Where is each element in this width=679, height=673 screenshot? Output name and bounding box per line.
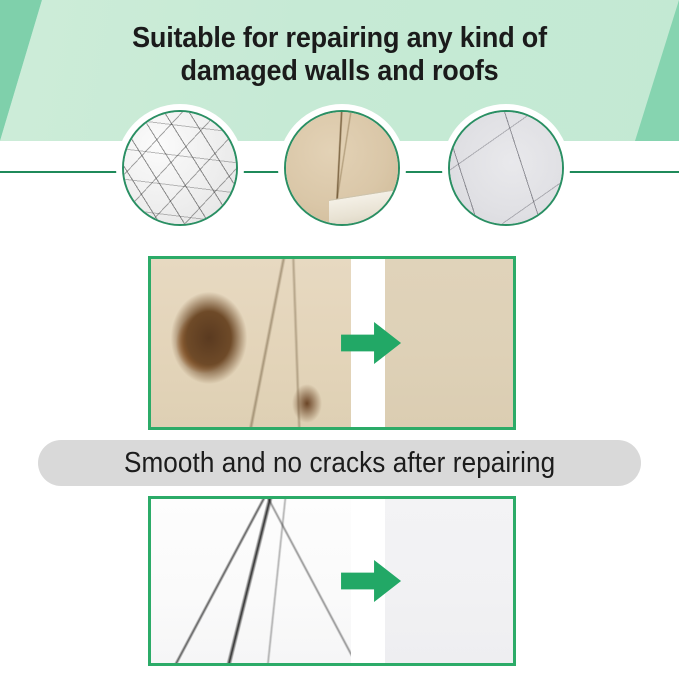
- panel-white-after-image: [385, 499, 513, 663]
- crackled-white-wall-texture: [124, 112, 236, 224]
- circle-photo-gray-wall-branching-crack: [448, 110, 564, 226]
- wall-trim-molding: [329, 186, 400, 226]
- status-banner: Smooth and no cracks after repairing: [38, 440, 641, 486]
- before-after-panel-beige-wall: [148, 256, 516, 430]
- circle-photo-row: [0, 0, 679, 255]
- panel-white-before-image: [151, 499, 351, 663]
- circle-photo-crackled-white-wall: [122, 110, 238, 226]
- beige-wall-texture: [286, 112, 398, 224]
- panel-beige-before-image: [151, 259, 351, 427]
- panel-beige-after-image: [385, 259, 513, 427]
- status-banner-text: Smooth and no cracks after repairing: [124, 447, 555, 480]
- circle-photo-beige-wall-vertical-crack: [284, 110, 400, 226]
- infographic-canvas: Suitable for repairing any kind ofdamage…: [0, 0, 679, 673]
- before-after-panel-white-wall: [148, 496, 516, 666]
- gray-wall-texture: [450, 112, 562, 224]
